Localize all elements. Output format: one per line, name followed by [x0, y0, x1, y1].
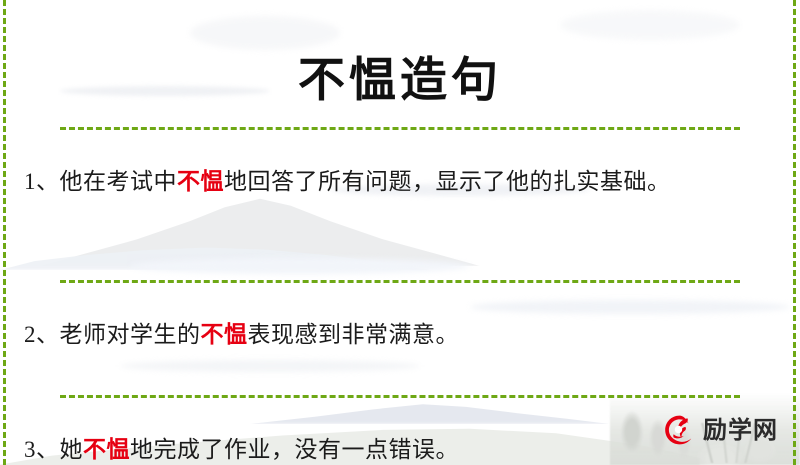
- worksheet-page: 不愠造句 1、他在考试中不愠地回答了所有问题，显示了他的扎实基础。 2、老师对学…: [0, 0, 800, 465]
- sentence-text-before: 老师对学生的: [60, 322, 201, 347]
- content-area: 不愠造句 1、他在考试中不愠地回答了所有问题，显示了他的扎实基础。 2、老师对学…: [0, 31, 800, 465]
- page-title: 不愠造句: [22, 31, 778, 95]
- sentence-number: 3、: [24, 437, 60, 462]
- highlighted-keyword: 不愠: [83, 437, 130, 462]
- highlighted-keyword: 不愠: [177, 169, 224, 194]
- sentence-text-before: 她: [60, 437, 84, 462]
- divider-line: [60, 280, 740, 283]
- site-watermark: 励学网: [662, 413, 778, 447]
- example-sentence-1: 1、他在考试中不愠地回答了所有问题，显示了他的扎实基础。: [22, 153, 778, 257]
- sentence-text-before: 他在考试中: [60, 169, 178, 194]
- sentence-number: 1、: [24, 169, 60, 194]
- sentence-text-after: 地完成了作业，没有一点错误。: [130, 437, 459, 462]
- site-brand-name: 励学网: [703, 418, 778, 442]
- right-dashed-border: [793, 0, 796, 465]
- divider-line: [60, 395, 740, 398]
- example-sentence-2: 2、老师对学生的不愠表现感到非常满意。: [22, 306, 778, 372]
- divider-line: [60, 127, 740, 130]
- sentence-number: 2、: [24, 322, 60, 347]
- sentence-text-after: 表现感到非常满意。: [248, 322, 460, 347]
- highlighted-keyword: 不愠: [201, 322, 248, 347]
- left-dashed-border: [3, 0, 6, 465]
- red-swirl-bird-logo-icon: [662, 413, 696, 447]
- sentence-text-after: 地回答了所有问题，显示了他的扎实基础。: [224, 169, 671, 194]
